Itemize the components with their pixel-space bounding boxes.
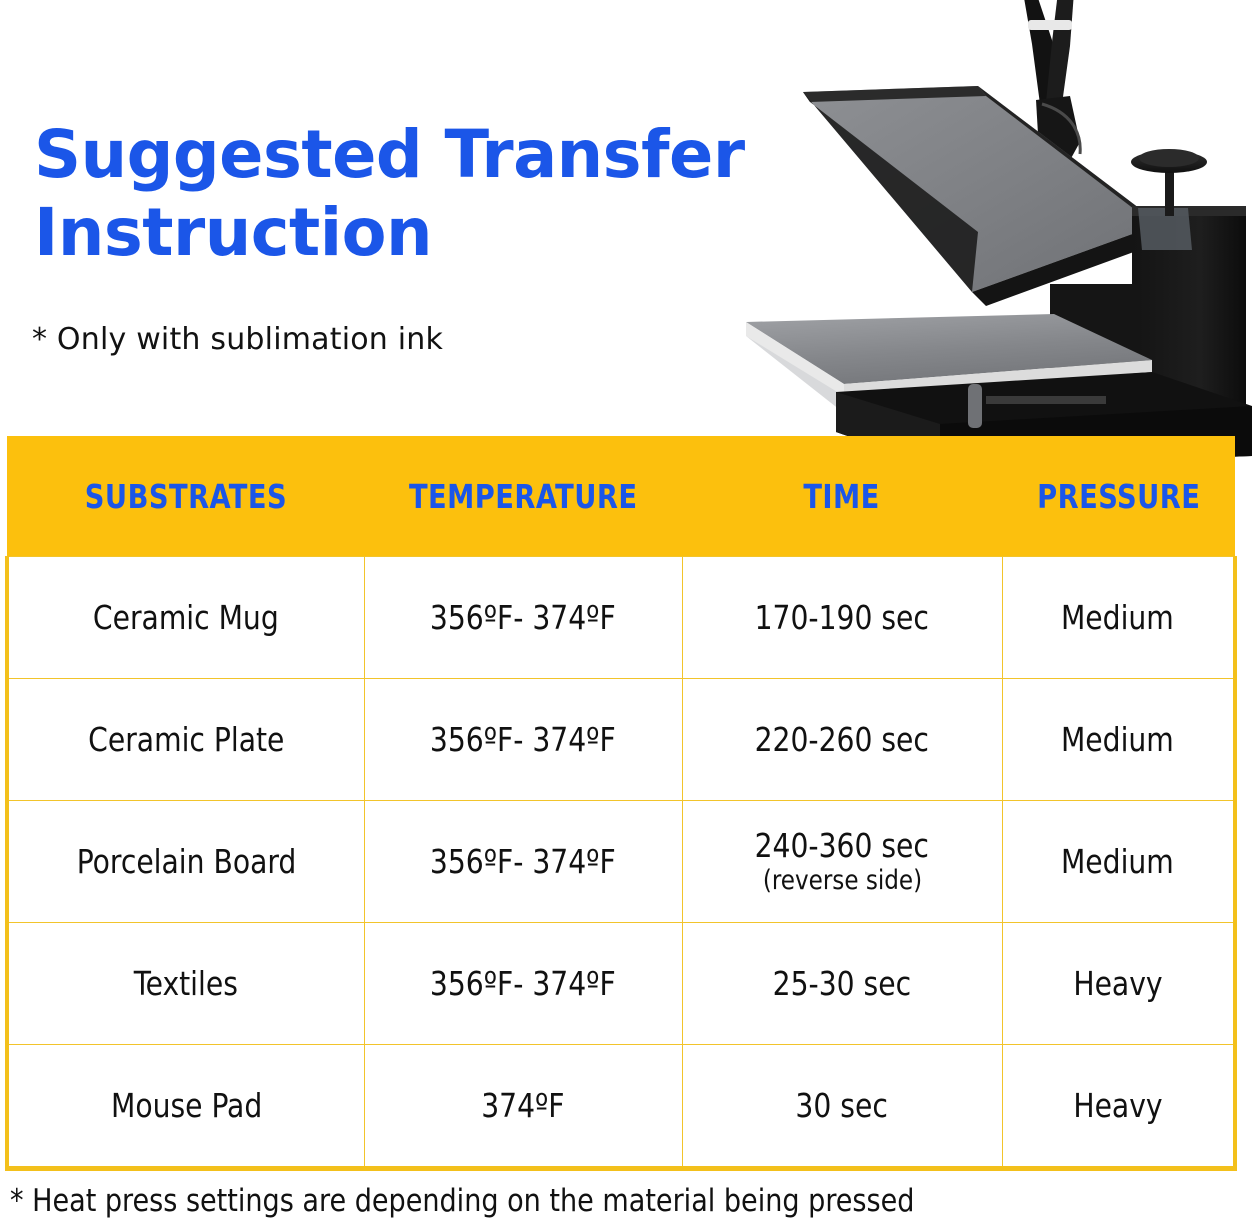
cell-pressure-value: Heavy [1073,966,1162,1002]
cell-temperature: 374ºF [364,1045,682,1169]
cell-substrate: Porcelain Board [7,801,364,923]
cell-substrate: Ceramic Plate [7,679,364,801]
cell-temperature-value: 374ºF [481,1088,564,1124]
instruction-card: Suggested Transfer Instruction * Only wi… [0,0,1260,1226]
cell-substrate: Textiles [7,923,364,1045]
table-row: Ceramic Mug 356ºF- 374ºF 170-190 sec Med… [7,557,1235,679]
pressure-knob [1131,149,1207,216]
page-title-line-2: Instruction [34,194,826,272]
page-title: Suggested Transfer Instruction [34,116,834,272]
table-header: SUBSTRATES TEMPERATURE TIME PRESSURE [7,436,1235,557]
cell-time: 240-360 sec (reverse side) [682,801,1002,923]
cell-pressure-value: Heavy [1073,1088,1162,1124]
cell-pressure-value: Medium [1061,722,1174,758]
transfer-settings-table: SUBSTRATES TEMPERATURE TIME PRESSURE Cer… [5,436,1233,1162]
cell-temperature: 356ºF- 374ºF [364,679,682,801]
cell-substrate-value: Porcelain Board [76,844,296,880]
cell-temperature-value: 356ºF- 374ºF [430,722,616,758]
cell-pressure: Medium [1002,679,1235,801]
footnote-text: * Heat press settings are depending on t… [10,1183,914,1219]
cell-time-value: 220-260 sec [755,722,929,758]
cell-time: 170-190 sec [682,557,1002,679]
column-header-time: TIME [682,436,1002,557]
column-header-temperature: TEMPERATURE [364,436,682,557]
cell-time-value: 170-190 sec [755,600,929,636]
table-header-row: SUBSTRATES TEMPERATURE TIME PRESSURE [7,436,1235,557]
cell-temperature-value: 356ºF- 374ºF [430,966,616,1002]
column-header-substrates: SUBSTRATES [7,436,364,557]
table-body: Ceramic Mug 356ºF- 374ºF 170-190 sec Med… [7,557,1235,1169]
cell-substrate-value: Ceramic Mug [93,600,279,636]
cell-substrate: Ceramic Mug [7,557,364,679]
cell-pressure-value: Medium [1061,600,1174,636]
cell-temperature-value: 356ºF- 374ºF [430,844,616,880]
cell-temperature-value: 356ºF- 374ºF [430,600,616,636]
cell-time: 220-260 sec [682,679,1002,801]
cell-substrate: Mouse Pad [7,1045,364,1169]
cell-time-value: 240-360 sec [755,828,929,864]
lower-platen [746,314,1152,410]
cell-temperature: 356ºF- 374ºF [364,801,682,923]
cell-time: 30 sec [682,1045,1002,1169]
column-header-substrates-label: SUBSTRATES [84,477,286,516]
cell-pressure: Heavy [1002,1045,1235,1169]
upper-platen [803,86,1222,306]
handle-arm [1023,0,1080,182]
cell-pressure: Heavy [1002,923,1235,1045]
cell-time-note: (reverse side) [694,866,989,895]
cell-substrate-value: Mouse Pad [111,1088,262,1124]
column-header-time-label: TIME [804,477,880,516]
page-title-line-1: Suggested Transfer [34,116,826,194]
column-header-temperature-label: TEMPERATURE [409,477,638,516]
cell-pressure: Medium [1002,557,1235,679]
table-row: Porcelain Board 356ºF- 374ºF 240-360 sec… [7,801,1235,923]
press-body [1050,206,1246,404]
cell-temperature: 356ºF- 374ºF [364,557,682,679]
cell-time-value: 25-30 sec [773,966,911,1002]
cell-pressure-value: Medium [1061,844,1174,880]
cell-time: 25-30 sec [682,923,1002,1045]
cell-pressure: Medium [1002,801,1235,923]
table-row: Mouse Pad 374ºF 30 sec Heavy [7,1045,1235,1169]
table-row: Ceramic Plate 356ºF- 374ºF 220-260 sec M… [7,679,1235,801]
column-header-pressure-label: PRESSURE [1037,477,1200,516]
cell-time-value: 30 sec [796,1088,888,1124]
cell-temperature: 356ºF- 374ºF [364,923,682,1045]
cell-substrate-value: Ceramic Plate [88,722,284,758]
table-row: Textiles 356ºF- 374ºF 25-30 sec Heavy [7,923,1235,1045]
column-header-pressure: PRESSURE [1002,436,1235,557]
cell-substrate-value: Textiles [134,966,238,1002]
subtitle-note: * Only with sublimation ink [32,322,443,357]
